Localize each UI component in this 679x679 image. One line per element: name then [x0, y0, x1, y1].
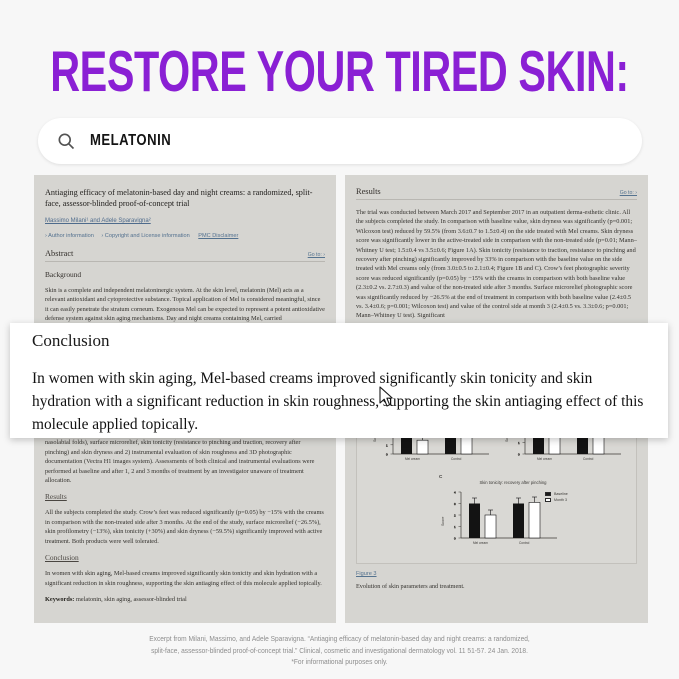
goto-link[interactable]: Go to: › — [620, 190, 637, 196]
page-title: RESTORE YOUR TIRED SKIN: — [41, 40, 639, 103]
svg-text:Mel cream: Mel cream — [405, 457, 420, 461]
svg-text:Mel cream: Mel cream — [473, 541, 488, 545]
overlay-body-text: In women with skin aging, Mel-based crea… — [32, 367, 646, 436]
legend-label-baseline: Baseline — [554, 492, 568, 496]
goto-link[interactable]: Go to: › — [308, 252, 325, 258]
legend-swatch-baseline — [545, 492, 551, 496]
caption-line-3: *For informational purposes only. — [24, 657, 655, 669]
overlay-heading: Conclusion — [32, 331, 646, 351]
svg-text:0: 0 — [518, 452, 520, 456]
conclusion-overlay-card: Conclusion In women with skin aging, Mel… — [10, 323, 668, 438]
page-root: RESTORE YOUR TIRED SKIN: MELATONIN Antia… — [0, 0, 679, 679]
keywords-value: melatonin, skin aging, assessor-blinded … — [74, 596, 186, 603]
figure-link[interactable]: Figure 3 — [356, 571, 637, 577]
legend-label-month3: Month 3 — [554, 498, 567, 502]
svg-text:Control: Control — [583, 457, 594, 461]
caption-line-1: Excerpt from Milani, Massimo, and Adele … — [24, 634, 655, 646]
results-section-header: Results Go to: › — [356, 187, 637, 200]
svg-text:4: 4 — [454, 490, 456, 494]
legend-swatch-month3 — [545, 498, 551, 502]
article-authors[interactable]: Massimo Milani¹ and Adele Sparavigna² — [45, 217, 325, 226]
keywords-label: Keywords: — [45, 596, 74, 603]
svg-text:2: 2 — [454, 513, 456, 517]
panel-c-title: Skin tonicity: recovery after pinching — [453, 480, 573, 485]
paragraph-methods-tail: nasolabial folds), surface microrelief, … — [45, 438, 325, 485]
subhead-conclusion: Conclusion — [45, 553, 325, 562]
abstract-section-header: Abstract Go to: › — [45, 249, 325, 262]
paragraph-results: All the subjects completed the study. Cr… — [45, 508, 325, 546]
panel-c-legend: Baseline Month 3 — [545, 492, 568, 504]
search-input[interactable]: MELATONIN — [90, 132, 171, 150]
svg-text:0: 0 — [386, 452, 388, 456]
article-title: Antiaging efficacy of melatonin-based da… — [45, 187, 325, 210]
pmc-disclaimer-link[interactable]: PMC Disclaimer — [198, 233, 238, 239]
svg-text:1: 1 — [518, 441, 520, 445]
subhead-background: Background — [45, 270, 325, 279]
svg-text:1: 1 — [454, 525, 456, 529]
svg-text:Control: Control — [451, 457, 462, 461]
svg-text:0: 0 — [454, 536, 456, 540]
section-title: Results — [356, 187, 381, 196]
svg-text:Control: Control — [519, 541, 530, 545]
svg-text:Mel cream: Mel cream — [537, 457, 552, 461]
paragraph-background: Skin is a complete and independent melat… — [45, 286, 325, 324]
subhead-results: Results — [45, 492, 325, 501]
figure-caption: Evolution of skin parameters and treatme… — [356, 583, 637, 590]
svg-text:3: 3 — [454, 502, 456, 506]
section-title: Abstract — [45, 249, 73, 258]
copyright-link[interactable]: › Copyright and License information — [101, 233, 189, 239]
source-caption: Excerpt from Milani, Massimo, and Adele … — [0, 634, 679, 669]
panel-c-letter: C — [439, 474, 442, 479]
keywords-line: Keywords: melatonin, skin aging, assesso… — [45, 595, 325, 604]
caption-line-2: split-face, assessor-blinded proof-of-co… — [24, 646, 655, 658]
search-bar[interactable]: MELATONIN — [38, 118, 642, 164]
article-meta-links[interactable]: › Author information › Copyright and Lic… — [45, 232, 325, 241]
author-information-link[interactable]: › Author information — [45, 233, 94, 239]
search-icon — [56, 131, 76, 151]
paragraph-conclusion: In women with skin aging, Mel-based crea… — [45, 569, 325, 588]
svg-text:1: 1 — [386, 443, 388, 447]
paragraph-results-full: The trial was conducted between March 20… — [356, 208, 637, 321]
